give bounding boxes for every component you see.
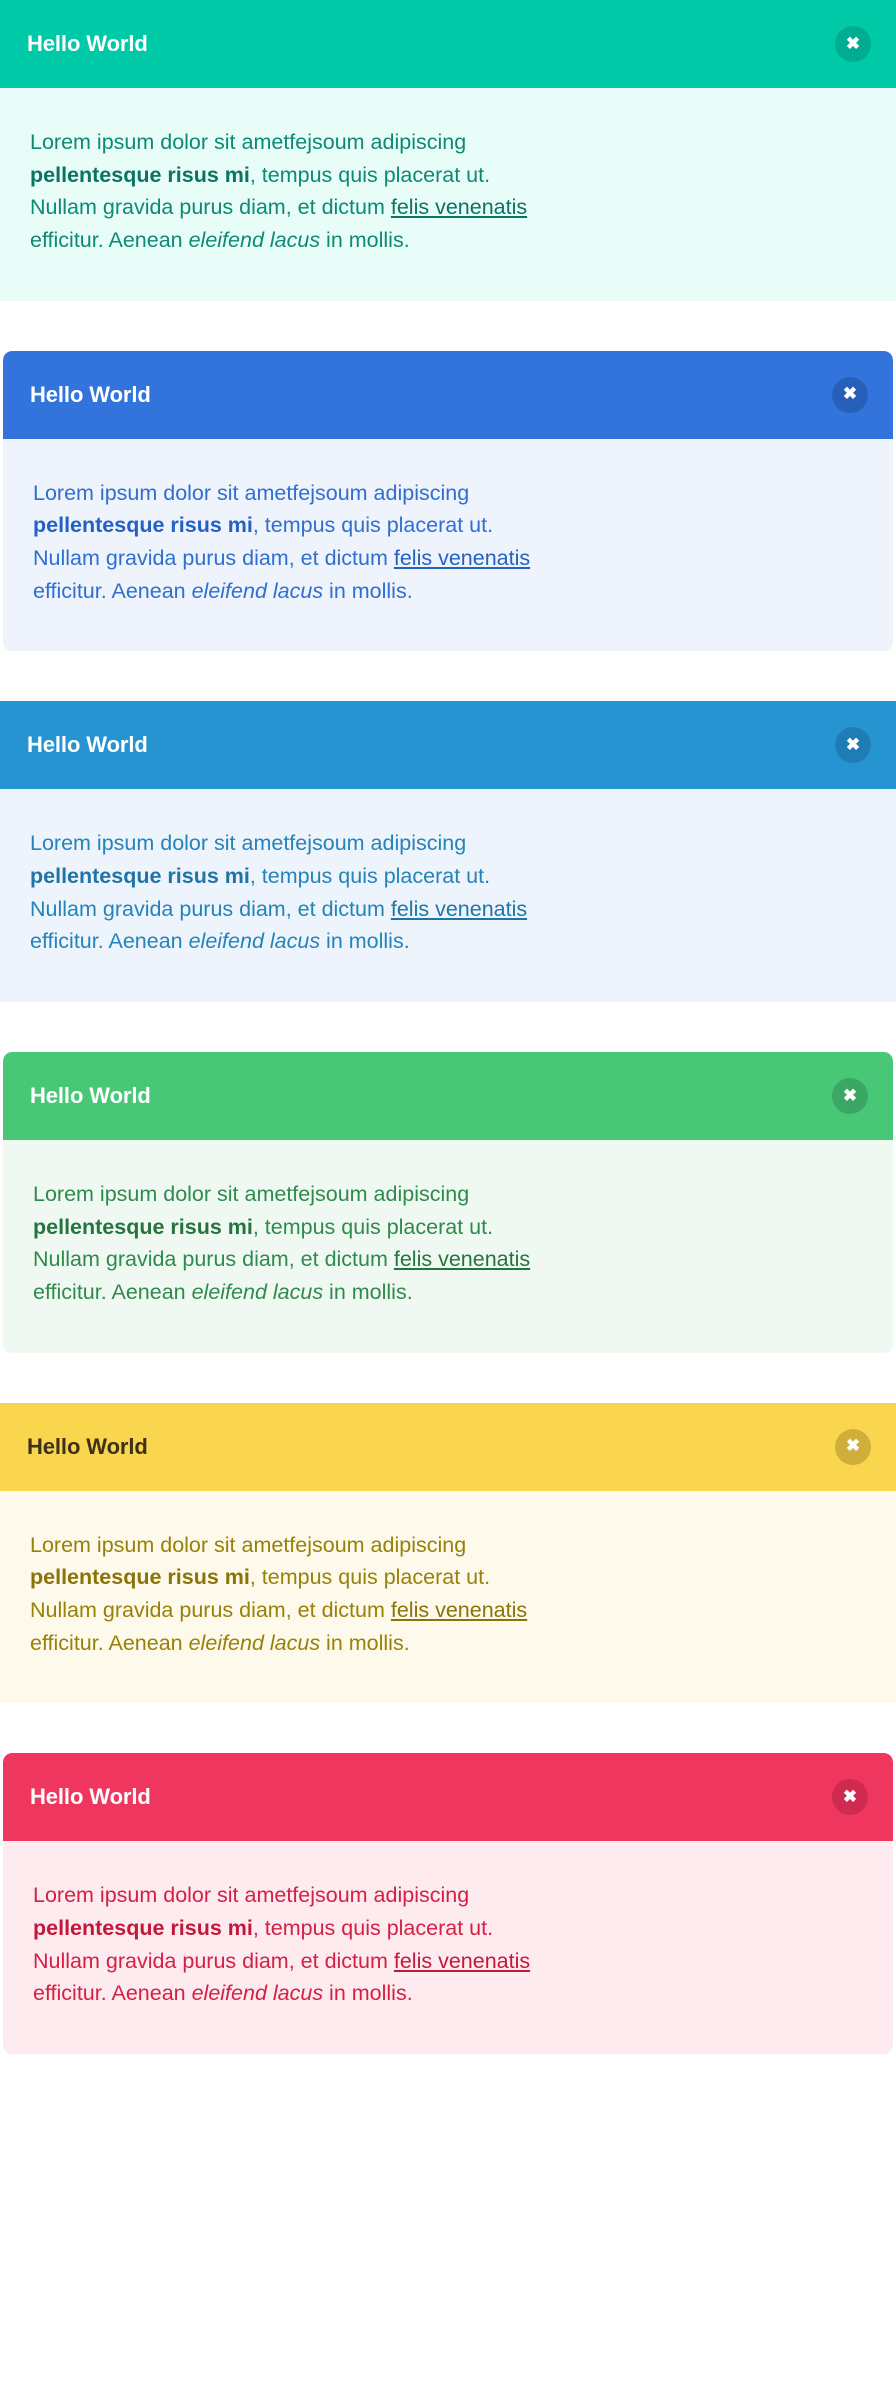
close-glyph: ✖ — [843, 1087, 857, 1104]
message-strong: pellentesque risus mi — [30, 864, 250, 888]
alert-title: Hello World — [30, 1786, 151, 1808]
message-emphasis: eleifend lacus — [189, 1631, 320, 1655]
alert-message: Lorem ipsum dolor sit ametfejsoum adipis… — [33, 1879, 543, 2010]
message-after-link: efficitur. Aenean — [33, 1280, 192, 1304]
message-link[interactable]: felis venenatis — [394, 546, 530, 570]
message-strong: pellentesque risus mi — [30, 163, 250, 187]
alert-message: Lorem ipsum dolor sit ametfejsoum adipis… — [33, 477, 543, 608]
alert-body: Lorem ipsum dolor sit ametfejsoum adipis… — [0, 88, 896, 301]
message-emphasis: eleifend lacus — [189, 929, 320, 953]
alert-header: Hello World✖ — [0, 1403, 896, 1491]
message-strong: pellentesque risus mi — [33, 513, 253, 537]
alert-message: Lorem ipsum dolor sit ametfejsoum adipis… — [33, 1178, 543, 1309]
alert-message: Lorem ipsum dolor sit ametfejsoum adipis… — [30, 827, 540, 958]
alert-warning: Hello World✖Lorem ipsum dolor sit ametfe… — [0, 1403, 896, 1704]
close-icon[interactable]: ✖ — [835, 26, 871, 62]
alert-primary: Hello World✖Lorem ipsum dolor sit ametfe… — [3, 351, 893, 652]
close-icon[interactable]: ✖ — [832, 377, 868, 413]
alert-message: Lorem ipsum dolor sit ametfejsoum adipis… — [30, 126, 540, 257]
alert-header: Hello World✖ — [0, 701, 896, 789]
alert-header: Hello World✖ — [3, 1753, 893, 1841]
message-strong: pellentesque risus mi — [33, 1916, 253, 1940]
message-tail: in mollis. — [320, 228, 410, 252]
alert-body: Lorem ipsum dolor sit ametfejsoum adipis… — [3, 1841, 893, 2054]
alert-teal: Hello World✖Lorem ipsum dolor sit ametfe… — [0, 0, 896, 301]
message-emphasis: eleifend lacus — [192, 1280, 323, 1304]
message-tail: in mollis. — [323, 579, 413, 603]
alert-title: Hello World — [27, 33, 148, 55]
message-link[interactable]: felis venenatis — [391, 195, 527, 219]
alert-danger: Hello World✖Lorem ipsum dolor sit ametfe… — [3, 1753, 893, 2054]
close-glyph: ✖ — [843, 385, 857, 402]
close-glyph: ✖ — [846, 736, 860, 753]
message-emphasis: eleifend lacus — [192, 579, 323, 603]
message-strong: pellentesque risus mi — [30, 1565, 250, 1589]
message-link[interactable]: felis venenatis — [391, 1598, 527, 1622]
alert-success: Hello World✖Lorem ipsum dolor sit ametfe… — [3, 1052, 893, 1353]
message-after-link: efficitur. Aenean — [33, 1981, 192, 2005]
message-tail: in mollis. — [320, 929, 410, 953]
alert-info: Hello World✖Lorem ipsum dolor sit ametfe… — [0, 701, 896, 1002]
alert-header: Hello World✖ — [0, 0, 896, 88]
message-lead: Lorem ipsum dolor sit ametfejsoum adipis… — [30, 1533, 466, 1557]
alert-title: Hello World — [30, 1085, 151, 1107]
message-lead: Lorem ipsum dolor sit ametfejsoum adipis… — [33, 1182, 469, 1206]
message-emphasis: eleifend lacus — [189, 228, 320, 252]
alert-body: Lorem ipsum dolor sit ametfejsoum adipis… — [3, 1140, 893, 1353]
message-link[interactable]: felis venenatis — [394, 1247, 530, 1271]
alert-title: Hello World — [30, 384, 151, 406]
close-glyph: ✖ — [846, 35, 860, 52]
message-emphasis: eleifend lacus — [192, 1981, 323, 2005]
close-icon[interactable]: ✖ — [832, 1779, 868, 1815]
message-after-link: efficitur. Aenean — [30, 228, 189, 252]
message-lead: Lorem ipsum dolor sit ametfejsoum adipis… — [33, 481, 469, 505]
message-link[interactable]: felis venenatis — [391, 897, 527, 921]
close-glyph: ✖ — [843, 1788, 857, 1805]
alert-body: Lorem ipsum dolor sit ametfejsoum adipis… — [0, 789, 896, 1002]
close-icon[interactable]: ✖ — [835, 1429, 871, 1465]
message-tail: in mollis. — [323, 1981, 413, 2005]
alerts-page: Hello World✖Lorem ipsum dolor sit ametfe… — [0, 0, 896, 2054]
message-strong: pellentesque risus mi — [33, 1215, 253, 1239]
message-lead: Lorem ipsum dolor sit ametfejsoum adipis… — [30, 130, 466, 154]
alert-header: Hello World✖ — [3, 351, 893, 439]
message-lead: Lorem ipsum dolor sit ametfejsoum adipis… — [33, 1883, 469, 1907]
alert-body: Lorem ipsum dolor sit ametfejsoum adipis… — [0, 1491, 896, 1704]
close-glyph: ✖ — [846, 1437, 860, 1454]
close-icon[interactable]: ✖ — [835, 727, 871, 763]
close-icon[interactable]: ✖ — [832, 1078, 868, 1114]
alert-header: Hello World✖ — [3, 1052, 893, 1140]
message-tail: in mollis. — [320, 1631, 410, 1655]
message-after-link: efficitur. Aenean — [30, 1631, 189, 1655]
message-lead: Lorem ipsum dolor sit ametfejsoum adipis… — [30, 831, 466, 855]
alert-title: Hello World — [27, 734, 148, 756]
message-link[interactable]: felis venenatis — [394, 1949, 530, 1973]
alert-body: Lorem ipsum dolor sit ametfejsoum adipis… — [3, 439, 893, 652]
alert-message: Lorem ipsum dolor sit ametfejsoum adipis… — [30, 1529, 540, 1660]
message-tail: in mollis. — [323, 1280, 413, 1304]
message-after-link: efficitur. Aenean — [30, 929, 189, 953]
message-after-link: efficitur. Aenean — [33, 579, 192, 603]
alert-title: Hello World — [27, 1436, 148, 1458]
